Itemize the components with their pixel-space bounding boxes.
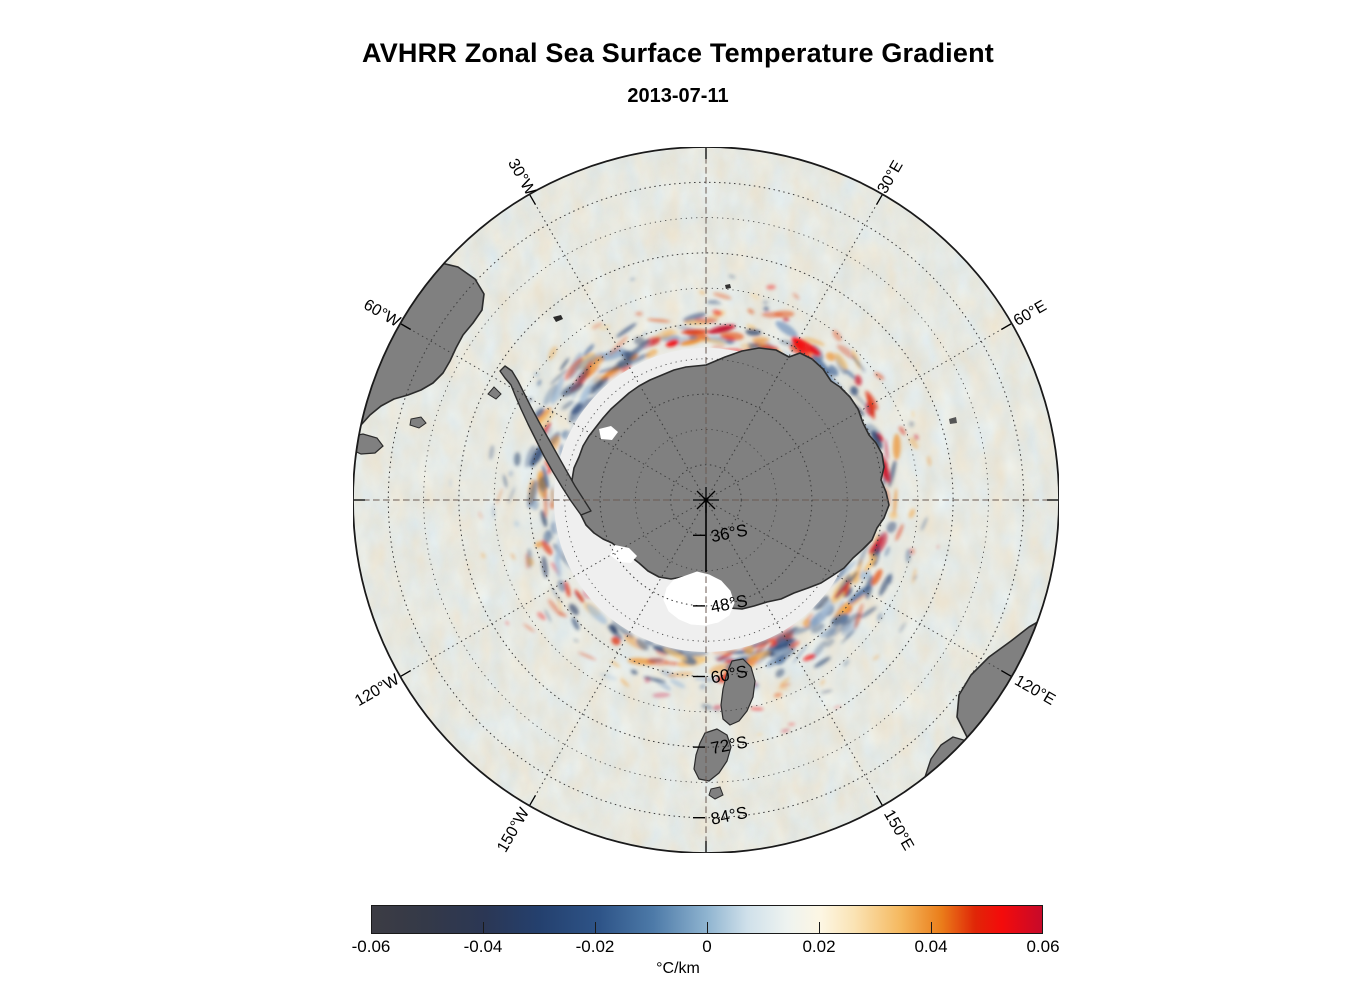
colorbar-unit-label: °C/km — [0, 960, 1356, 978]
polar-map: 84°S72°S60°S48°S36°S 0°30°E60°E90°E120°E… — [353, 147, 1059, 853]
colorbar-tick — [931, 922, 932, 934]
colorbar-tick — [483, 922, 484, 934]
colorbar: -0.06-0.04-0.0200.020.040.06 °C/km — [0, 900, 1356, 1000]
longitude-label: 60°E — [1011, 298, 1050, 330]
longitude-label: 60°W — [360, 296, 403, 331]
colorbar-tick-label: 0 — [647, 937, 767, 957]
colorbar-tick — [707, 922, 708, 934]
colorbar-tick-label: -0.04 — [423, 937, 543, 957]
colorbar-tick-label: -0.06 — [311, 937, 431, 957]
colorbar-tick-label: 0.04 — [871, 937, 991, 957]
figure-canvas: AVHRR Zonal Sea Surface Temperature Grad… — [0, 0, 1356, 1000]
longitude-label: 150°W — [494, 804, 533, 853]
colorbar-tick-label: -0.02 — [535, 937, 655, 957]
tasmania-island — [1053, 775, 1059, 795]
longitude-label: 120°W — [353, 671, 403, 710]
australia-south-coast — [925, 737, 1025, 817]
colorbar-tick — [595, 922, 596, 934]
colorbar-tick-label: 0.02 — [759, 937, 879, 957]
colorbar-tick-label: 0.06 — [983, 937, 1103, 957]
longitude-label: 30°E — [875, 158, 907, 197]
longitude-label: 120°E — [1012, 672, 1058, 709]
map-svg: 84°S72°S60°S48°S36°S 0°30°E60°E90°E120°E… — [353, 147, 1059, 853]
figure-title: AVHRR Zonal Sea Surface Temperature Grad… — [0, 38, 1356, 69]
colorbar-tick — [819, 922, 820, 934]
longitude-label: 150°E — [880, 807, 917, 853]
figure-subtitle: 2013-07-11 — [0, 85, 1356, 108]
